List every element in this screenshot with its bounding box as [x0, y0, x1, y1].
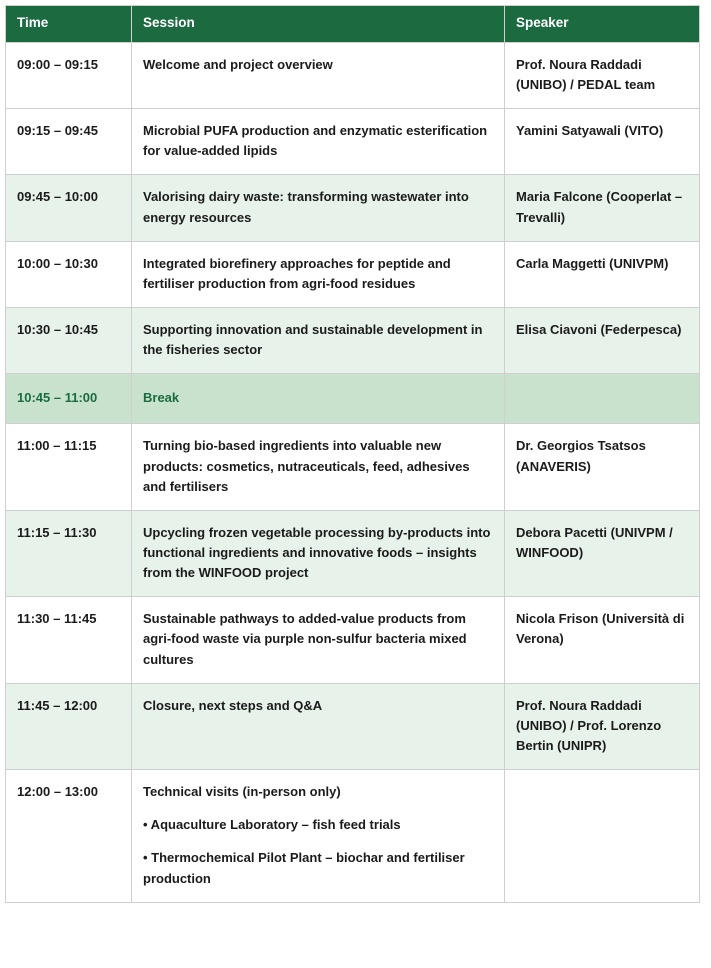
table-row: 11:45 – 12:00Closure, next steps and Q&A…: [6, 683, 700, 769]
cell-time: 09:00 – 09:15: [6, 42, 132, 108]
cell-session: Upcycling frozen vegetable processing by…: [132, 510, 505, 596]
cell-session: Microbial PUFA production and enzymatic …: [132, 109, 505, 175]
table-row: 09:00 – 09:15Welcome and project overvie…: [6, 42, 700, 108]
cell-time: 10:00 – 10:30: [6, 241, 132, 307]
column-header-time: Time: [6, 6, 132, 43]
cell-time: 11:45 – 12:00: [6, 683, 132, 769]
agenda-table: Time Session Speaker 09:00 – 09:15Welcom…: [5, 5, 700, 903]
cell-time: 10:45 – 11:00: [6, 374, 132, 424]
agenda-container: Time Session Speaker 09:00 – 09:15Welcom…: [0, 0, 711, 903]
cell-time: 11:30 – 11:45: [6, 597, 132, 683]
cell-session: Valorising dairy waste: transforming was…: [132, 175, 505, 241]
cell-session: Break: [132, 374, 505, 424]
cell-time: 11:00 – 11:15: [6, 424, 132, 510]
cell-time: 11:15 – 11:30: [6, 510, 132, 596]
table-row: 10:30 – 10:45Supporting innovation and s…: [6, 308, 700, 374]
cell-speaker: Maria Falcone (Cooperlat – Trevalli): [505, 175, 700, 241]
table-body: 09:00 – 09:15Welcome and project overvie…: [6, 42, 700, 902]
table-row: 10:45 – 11:00Break: [6, 374, 700, 424]
session-title: Technical visits (in-person only): [143, 782, 493, 802]
table-header: Time Session Speaker: [6, 6, 700, 43]
cell-session: Closure, next steps and Q&A: [132, 683, 505, 769]
cell-speaker: [505, 374, 700, 424]
cell-session: Welcome and project overview: [132, 42, 505, 108]
cell-time: 10:30 – 10:45: [6, 308, 132, 374]
table-header-row: Time Session Speaker: [6, 6, 700, 43]
cell-session: Turning bio-based ingredients into valua…: [132, 424, 505, 510]
cell-speaker: Carla Maggetti (UNIVPM): [505, 241, 700, 307]
table-row: 12:00 – 13:00Technical visits (in-person…: [6, 770, 700, 903]
table-row: 09:45 – 10:00Valorising dairy waste: tra…: [6, 175, 700, 241]
table-row: 10:00 – 10:30Integrated biorefinery appr…: [6, 241, 700, 307]
session-bullet: • Thermochemical Pilot Plant – biochar a…: [143, 848, 493, 888]
cell-speaker: Elisa Ciavoni (Federpesca): [505, 308, 700, 374]
table-row: 09:15 – 09:45Microbial PUFA production a…: [6, 109, 700, 175]
cell-session: Sustainable pathways to added-value prod…: [132, 597, 505, 683]
table-row: 11:30 – 11:45Sustainable pathways to add…: [6, 597, 700, 683]
cell-time: 12:00 – 13:00: [6, 770, 132, 903]
cell-time: 09:45 – 10:00: [6, 175, 132, 241]
table-row: 11:15 – 11:30Upcycling frozen vegetable …: [6, 510, 700, 596]
cell-speaker: Nicola Frison (Università di Verona): [505, 597, 700, 683]
table-row: 11:00 – 11:15Turning bio-based ingredien…: [6, 424, 700, 510]
cell-speaker: Yamini Satyawali (VITO): [505, 109, 700, 175]
column-header-speaker: Speaker: [505, 6, 700, 43]
cell-session: Technical visits (in-person only)• Aquac…: [132, 770, 505, 903]
session-bullet: • Aquaculture Laboratory – fish feed tri…: [143, 815, 493, 835]
cell-session: Supporting innovation and sustainable de…: [132, 308, 505, 374]
cell-speaker: Dr. Georgios Tsatsos (ANAVERIS): [505, 424, 700, 510]
cell-speaker: [505, 770, 700, 903]
cell-speaker: Prof. Noura Raddadi (UNIBO) / Prof. Lore…: [505, 683, 700, 769]
cell-time: 09:15 – 09:45: [6, 109, 132, 175]
column-header-session: Session: [132, 6, 505, 43]
cell-speaker: Debora Pacetti (UNIVPM / WINFOOD): [505, 510, 700, 596]
cell-session: Integrated biorefinery approaches for pe…: [132, 241, 505, 307]
cell-speaker: Prof. Noura Raddadi (UNIBO) / PEDAL team: [505, 42, 700, 108]
